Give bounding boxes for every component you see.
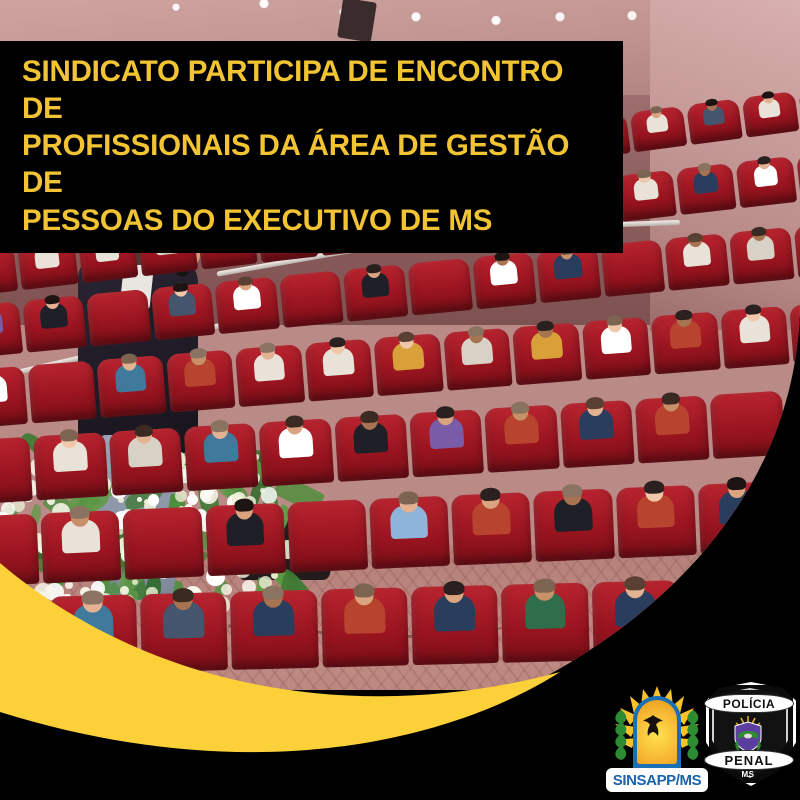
flower-blossom xyxy=(148,494,159,505)
audience-member xyxy=(553,479,593,531)
laurel-branch-left-icon xyxy=(610,708,632,766)
scroll-banner-bottom: PENAL xyxy=(704,750,794,770)
theater-seat xyxy=(0,514,40,587)
audience-member xyxy=(390,327,424,371)
page-title: SINDICATO PARTICIPA DE ENCONTRO DE PROFI… xyxy=(22,53,601,239)
theater-seat xyxy=(27,360,97,423)
audience-member xyxy=(691,159,718,194)
flower-blossom xyxy=(175,490,187,502)
flower-blossom xyxy=(132,579,138,585)
ms-sub-label: MS xyxy=(702,770,794,779)
theater-seat xyxy=(793,221,800,279)
audience-member xyxy=(460,321,494,365)
audience-member xyxy=(389,487,429,539)
audience-member xyxy=(757,88,782,119)
audience-member xyxy=(321,332,355,376)
audience-member xyxy=(614,571,656,627)
theater-seat xyxy=(796,149,800,201)
audience-member xyxy=(61,501,101,553)
sinsapp-wordmark: SINSAPP/MS xyxy=(606,768,708,792)
theater-seat xyxy=(780,478,800,551)
social-media-poster: SINDICATO PARTICIPA DE ENCONTRO DE PROFI… xyxy=(0,0,800,800)
audience-member xyxy=(253,580,295,636)
audience-member xyxy=(681,228,712,267)
eagle-icon xyxy=(641,712,665,738)
headline-line-1: SINDICATO PARTICIPA DE ENCONTRO DE xyxy=(22,55,563,125)
audience-member xyxy=(433,576,475,632)
audience-member xyxy=(529,316,563,360)
theater-seat xyxy=(772,575,800,655)
policia-penal-ms-logo: POLÍCIA PENAL MS xyxy=(702,680,794,792)
audience-member xyxy=(202,415,239,463)
audience-member xyxy=(578,392,615,440)
theater-seat xyxy=(287,499,368,572)
theater-seat xyxy=(0,437,33,505)
logo-arch xyxy=(633,696,681,772)
flower-blossom xyxy=(187,494,198,505)
sinsapp-wordmark-text: SINSAPP/MS xyxy=(613,772,702,789)
audience-member xyxy=(635,476,675,528)
audience-member xyxy=(524,573,566,629)
audience-member xyxy=(252,338,286,382)
laurel-branch-right-icon xyxy=(682,708,704,766)
audience-member xyxy=(113,349,147,393)
audience-member xyxy=(162,583,204,639)
audience-member xyxy=(225,494,265,546)
audience-member xyxy=(343,578,385,634)
audience-member xyxy=(127,420,164,468)
audience-member xyxy=(359,259,390,298)
audience-member xyxy=(745,222,776,261)
flower-blossom xyxy=(137,497,142,502)
audience-member xyxy=(598,310,632,354)
audience-member xyxy=(751,152,778,187)
headline-line-2: PROFISSIONAIS DA ÁREA DE GESTÃO DE xyxy=(22,129,569,199)
theater-seat xyxy=(86,289,151,347)
audience-member xyxy=(231,272,262,311)
audience-member xyxy=(0,587,24,643)
audience-member xyxy=(502,397,539,445)
audience-member xyxy=(38,290,69,329)
audience-member xyxy=(471,483,511,535)
audience-member xyxy=(427,401,464,449)
audience-member xyxy=(166,278,197,317)
ms-coat-of-arms-icon xyxy=(730,714,766,754)
scroll-banner-top: POLÍCIA xyxy=(704,694,794,713)
theater-seat xyxy=(123,506,204,579)
headline-line-3: PESSOAS DO EXECUTIVO DE MS xyxy=(22,204,492,237)
theater-seat xyxy=(279,270,344,328)
audience-member xyxy=(277,411,314,459)
audience-member xyxy=(737,300,771,344)
audience-member xyxy=(668,305,702,349)
headline-banner: SINDICATO PARTICIPA DE ENCONTRO DE PROFI… xyxy=(0,41,623,253)
penal-label: PENAL xyxy=(724,753,773,768)
audience-member xyxy=(644,103,669,134)
audience-member xyxy=(51,424,88,472)
audience-member xyxy=(182,343,216,387)
theater-seat xyxy=(710,391,785,459)
audience-member xyxy=(653,388,690,436)
audience-member xyxy=(72,585,114,641)
flower-blossom xyxy=(118,497,124,503)
theater-seat xyxy=(785,386,800,454)
theater-seat xyxy=(407,258,472,316)
logo-group: SINSAPP/MS xyxy=(608,680,794,792)
audience-member xyxy=(717,472,757,524)
theater-seat xyxy=(790,300,800,363)
sinsapp-ms-logo: SINSAPP/MS xyxy=(608,684,706,792)
audience-member xyxy=(632,166,659,201)
audience-member xyxy=(700,95,725,126)
audience-member xyxy=(352,406,389,454)
flower-blossom xyxy=(260,488,265,493)
policia-label: POLÍCIA xyxy=(723,697,775,711)
theater-seat xyxy=(682,578,770,658)
